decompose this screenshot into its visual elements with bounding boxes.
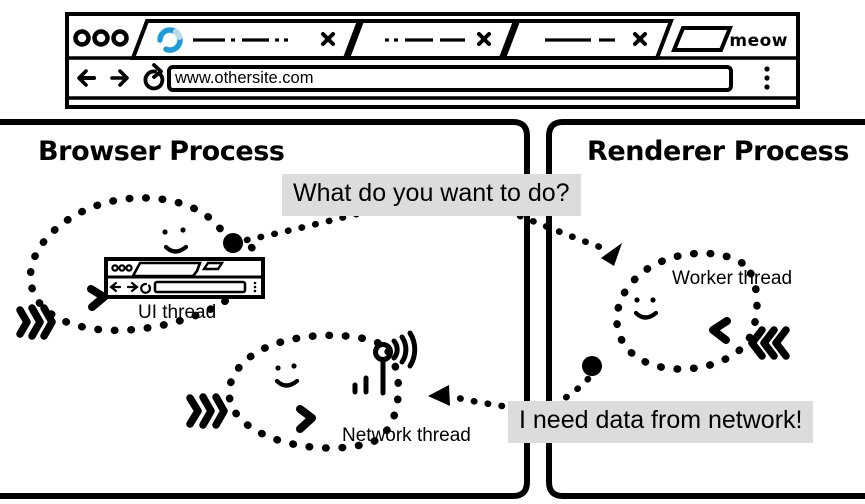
- message-2-origin-dot: [582, 356, 602, 376]
- diagram-canvas: meow www.othersite.com Browser Process R…: [0, 0, 865, 504]
- network-thread-motion-lines: [190, 397, 224, 425]
- message-1-origin-dot: [223, 233, 243, 253]
- ui-thread-loop-arrowhead: [91, 289, 104, 307]
- worker-thread-label: Worker thread: [672, 268, 792, 290]
- antenna-wifi-icon: [355, 333, 415, 393]
- message-2-arrowhead: [428, 385, 450, 406]
- message-1-arrowhead: [601, 243, 622, 266]
- message-bubble-need-data: I need data from network!: [508, 401, 813, 443]
- worker-thread-loop-arrowhead: [713, 321, 727, 340]
- network-thread-label: Network thread: [342, 425, 471, 447]
- message-bubble-what-to-do: What do you want to do?: [282, 174, 581, 216]
- mini-browser-window-icon: [106, 259, 263, 297]
- message-2-dots-left: [450, 396, 502, 406]
- worker-thread-face: [634, 297, 656, 317]
- network-thread-face: [275, 363, 297, 385]
- ui-thread-label: UI thread: [138, 302, 216, 324]
- worker-thread-motion-lines: [752, 330, 786, 356]
- ui-thread-face: [162, 227, 186, 251]
- network-thread-loop-arrowhead: [300, 409, 312, 429]
- ui-thread-motion-lines: [20, 308, 52, 336]
- message-1-dots-right: [520, 216, 600, 247]
